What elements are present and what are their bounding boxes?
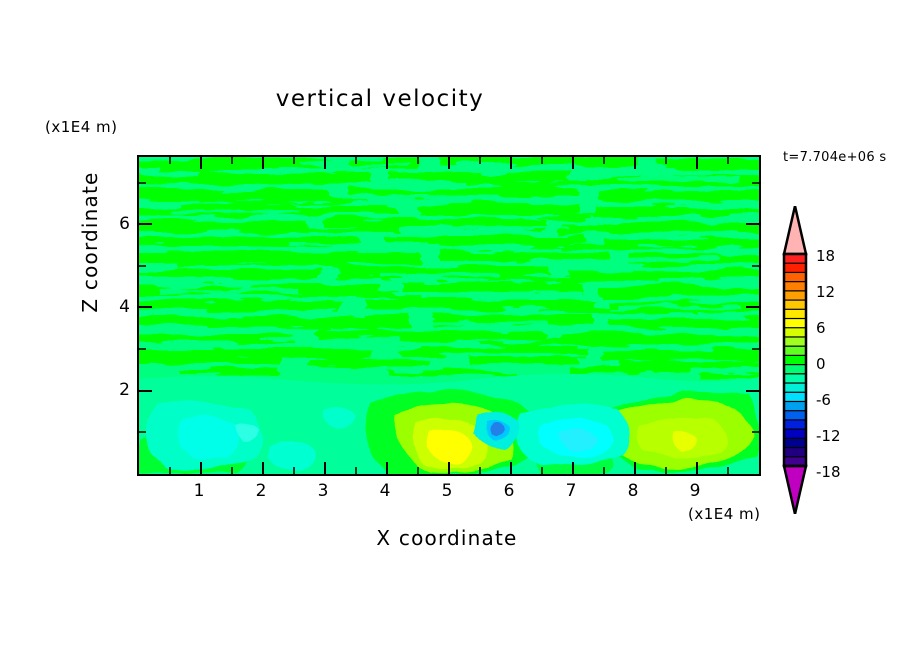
x-axis-unit-label: (x1E4 m) [688, 505, 761, 523]
colorbar-band [784, 291, 806, 301]
colorbar-tick-label: 6 [816, 319, 826, 337]
y-tick-label: 2 [104, 380, 130, 400]
x-axis-title: X coordinate [137, 526, 757, 550]
colorbar-band [784, 355, 806, 365]
colorbar-band [784, 365, 806, 375]
colorbar-svg [779, 206, 811, 514]
colorbar[interactable] [779, 206, 811, 514]
colorbar-band [784, 383, 806, 393]
colorbar-band [784, 392, 806, 402]
colorbar-band [784, 337, 806, 347]
colorbar-tick-label: 12 [816, 283, 835, 301]
colorbar-band [784, 328, 806, 338]
page-title: vertical velocity [0, 86, 760, 112]
figure-canvas: vertical velocity (x1E4 m) t=7.704e+06 s… [0, 0, 904, 654]
colorbar-band [784, 429, 806, 439]
colorbar-band [784, 346, 806, 356]
colorbar-band [784, 300, 806, 310]
colorbar-band [784, 448, 806, 458]
y-tick-label: 4 [104, 297, 130, 317]
colorbar-band [784, 420, 806, 430]
x-tick-label: 6 [494, 481, 524, 501]
colorbar-band [784, 401, 806, 411]
colorbar-band [784, 309, 806, 319]
x-tick-label: 2 [246, 481, 276, 501]
x-tick-label: 4 [370, 481, 400, 501]
contour-field [139, 157, 759, 474]
colorbar-under-arrow [784, 466, 806, 514]
colorbar-band [784, 282, 806, 292]
colorbar-tick-label: 18 [816, 247, 835, 265]
x-tick-label: 9 [680, 481, 710, 501]
convective-layer-group [139, 374, 759, 474]
colorbar-band [784, 263, 806, 273]
colorbar-band [784, 374, 806, 384]
x-tick-label: 8 [618, 481, 648, 501]
colorbar-tick-label: -18 [816, 463, 841, 481]
colorbar-band [784, 411, 806, 421]
x-tick-label: 3 [308, 481, 338, 501]
colorbar-band [784, 319, 806, 329]
colorbar-band [784, 254, 806, 264]
colorbar-tick-label: -6 [816, 391, 831, 409]
x-tick-label: 1 [184, 481, 214, 501]
colorbar-tick-label: -12 [816, 427, 841, 445]
colorbar-band [784, 438, 806, 448]
time-annotation: t=7.704e+06 s [783, 150, 886, 165]
contour-plot-area [137, 155, 761, 476]
colorbar-tick-label: 0 [816, 355, 826, 373]
x-tick-label: 7 [556, 481, 586, 501]
y-axis-unit-label: (x1E4 m) [45, 118, 118, 136]
x-tick-label: 5 [432, 481, 462, 501]
y-tick-label: 6 [104, 214, 130, 234]
colorbar-over-arrow [784, 206, 806, 254]
colorbar-band [784, 272, 806, 282]
colorbar-band-group [784, 254, 806, 466]
y-axis-title: Z coordinate [78, 142, 102, 342]
